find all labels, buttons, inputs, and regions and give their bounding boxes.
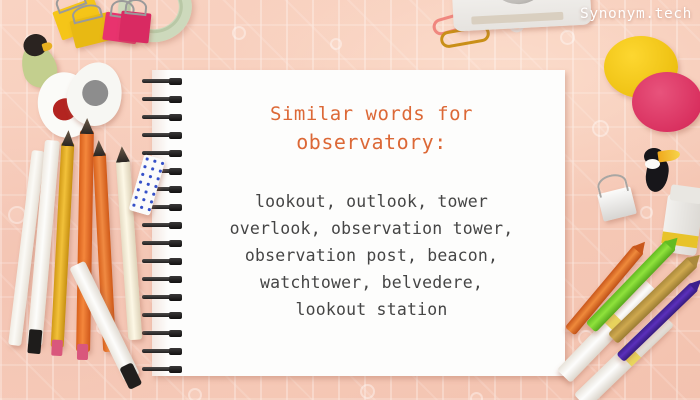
- spiral-ring: [142, 294, 186, 300]
- spiral-ring: [142, 96, 186, 102]
- page-content: Similar words for observatory: lookout, …: [152, 70, 565, 376]
- synonym-line: lookout, outlook, tower: [230, 188, 514, 215]
- magenta-binder-clip-icon: [119, 11, 152, 44]
- page-surface: Similar words for observatory: lookout, …: [152, 70, 565, 376]
- spiral-ring: [142, 240, 186, 246]
- spiral-ring: [142, 366, 186, 372]
- spiral-ring: [142, 348, 186, 354]
- synonym-line: overlook, observation tower,: [230, 215, 514, 242]
- pink-macaron-icon: [632, 72, 700, 132]
- synonym-line: lookout station: [230, 296, 514, 323]
- synonym-list: lookout, outlook, tower overlook, observ…: [230, 188, 514, 323]
- spiral-ring: [142, 276, 186, 282]
- spiral-ring: [142, 258, 186, 264]
- desk-scene: Similar words for observatory: lookout, …: [0, 0, 700, 400]
- spiral-ring: [142, 312, 186, 318]
- synonym-line: watchtower, belvedere,: [230, 269, 514, 296]
- spiral-ring: [142, 78, 186, 84]
- spiral-ring: [142, 222, 186, 228]
- spiral-ring: [142, 132, 186, 138]
- notebook-page: Similar words for observatory: lookout, …: [152, 70, 565, 376]
- spiral-ring: [142, 114, 186, 120]
- watermark-logo: Synonym.tech: [580, 6, 692, 22]
- spiral-binding: [142, 74, 188, 374]
- title-prefix: Similar words for: [270, 101, 473, 127]
- synonym-line: observation post, beacon,: [230, 242, 514, 269]
- title-block: Similar words for observatory:: [270, 101, 473, 157]
- spiral-ring: [142, 330, 186, 336]
- title-word: observatory:: [270, 127, 473, 157]
